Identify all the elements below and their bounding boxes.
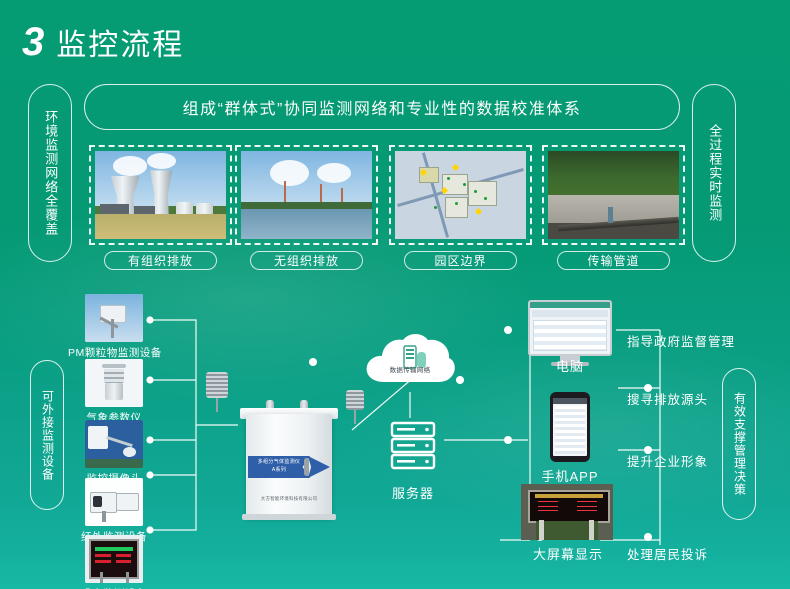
photo-unorganized-emission [235,145,378,245]
cloud-label: 数据传输网络 [362,364,458,374]
cctv-camera-icon [85,420,143,468]
infrared-device-icon [85,478,143,526]
photo-caption-1: 无组织排放 [250,251,363,270]
vertical-label-decision-support: 有效支撑管理决策 [722,368,756,520]
led-billboard-icon [521,484,613,540]
photo-transport-pipeline [542,145,685,245]
page-title: 3 监控流程 [22,22,184,62]
benefit-label-0: 指导政府监督管理 [627,331,735,350]
photo-caption-2: 园区边界 [404,251,517,270]
server-node: 服务器 [388,420,438,502]
device-item-cctv-camera: 监控摄像头 [68,420,160,486]
banner-text: 组成“群体式”协同监测网络和专业性的数据校准体系 [84,84,680,130]
noise-display-icon [85,535,143,583]
photo-caption-0: 有组织排放 [104,251,217,270]
section-number: 3 [22,22,44,62]
photo-caption-3: 传输管道 [557,251,670,270]
vertical-label-external-devices: 可外接监测设备 [30,360,64,510]
photo-park-boundary-map [389,145,532,245]
terminal-label-billboard: 大屏幕显示 [510,544,626,563]
device-item-noise-monitor: 噪音监测设备 [68,535,160,589]
device-item-weather-station: 气象参数仪 [68,359,160,425]
cabinet-brand-line2: A系列 [272,467,286,473]
benefit-label-1: 搜寻排放源头 [627,389,708,408]
cabinet-brand-label: 多组分气体监测仪 A系列 [248,456,310,478]
cabinet-company-name: 大方智能环境科技有限公司 [252,496,326,502]
mobile-terminal [540,392,600,462]
cloud-icon [362,330,458,392]
server-label: 服务器 [388,483,438,502]
poster-canvas: 3 监控流程 环境监测网络全覆盖 全过程实时监测 可外接监测设备 有效支撑管理决… [0,0,790,589]
weather-station-icon [85,359,143,407]
benefit-label-2: 提升企业形象 [627,451,708,470]
vertical-label-network-coverage: 环境监测网络全覆盖 [28,84,72,262]
terminal-label-mobile: 手机APP [528,466,612,485]
server-icon [388,420,438,472]
desktop-monitor-icon [528,300,612,356]
section-title: 监控流程 [56,31,184,61]
device-label: PM颗粒物监测设备 [68,345,160,360]
data-network-cloud: 数据传输网络 [362,330,458,392]
terminal-label-desktop: 电脑 [528,356,612,375]
device-item-pm-sensor: PM颗粒物监测设备 [68,294,160,360]
cabinet-brand-line1: 多组分气体监测仪 [258,459,300,465]
smartphone-icon [550,392,590,462]
gas-monitoring-cabinet: 多组分气体监测仪 A系列 大方智能环境科技有限公司 [238,400,340,520]
vertical-label-realtime-monitoring: 全过程实时监测 [692,84,736,262]
pm-sensor-icon [85,294,143,342]
cabinet-handle [304,458,309,476]
photo-organized-emission [89,145,232,245]
benefit-label-3: 处理居民投诉 [627,544,708,563]
led-billboard-terminal [521,484,615,540]
